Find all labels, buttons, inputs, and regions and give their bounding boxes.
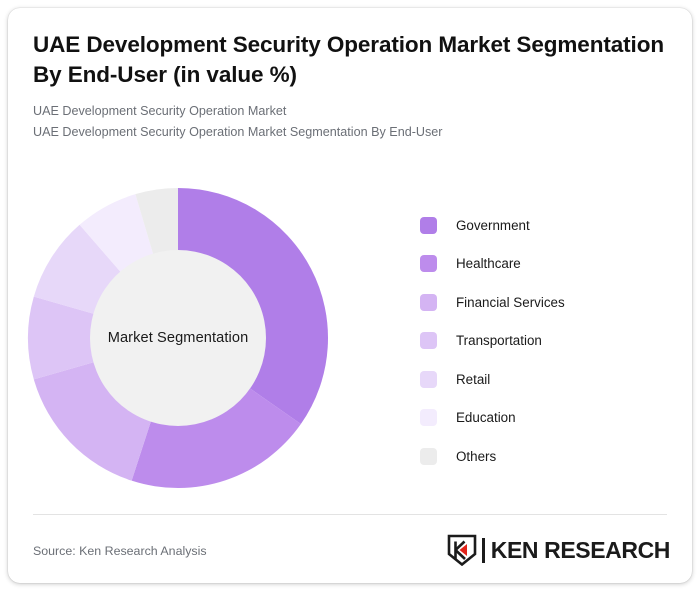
legend-item-government[interactable]: Government: [420, 206, 670, 245]
source-note: Source: Ken Research Analysis: [33, 544, 207, 558]
ken-research-logo: KEN RESEARCH: [447, 533, 670, 567]
breadcrumb: UAE Development Security Operation Marke…: [33, 101, 667, 142]
legend-item-education[interactable]: Education: [420, 399, 670, 438]
legend-item-healthcare[interactable]: Healthcare: [420, 245, 670, 284]
donut-svg: [24, 182, 332, 494]
legend-item-label: Healthcare: [456, 256, 521, 271]
legend-item-retail[interactable]: Retail: [420, 360, 670, 399]
chart-legend: GovernmentHealthcareFinancial ServicesTr…: [420, 206, 670, 476]
logo-wordmark: KEN RESEARCH: [491, 537, 670, 564]
chart-card: UAE Development Security Operation Marke…: [8, 8, 692, 583]
legend-item-label: Government: [456, 218, 530, 233]
legend-swatch-icon: [420, 448, 437, 465]
legend-swatch-icon: [420, 332, 437, 349]
donut-hole: [90, 250, 266, 426]
legend-item-label: Transportation: [456, 333, 542, 348]
legend-item-label: Education: [456, 410, 516, 425]
legend-swatch-icon: [420, 409, 437, 426]
subtitle-segmentation: UAE Development Security Operation Marke…: [33, 122, 667, 142]
legend-item-label: Retail: [456, 372, 490, 387]
donut-chart: Market Segmentation: [24, 182, 332, 494]
legend-item-label: Financial Services: [456, 295, 565, 310]
subtitle-market: UAE Development Security Operation Marke…: [33, 101, 667, 121]
legend-swatch-icon: [420, 294, 437, 311]
legend-swatch-icon: [420, 255, 437, 272]
chart-area: Market Segmentation GovernmentHealthcare…: [8, 176, 692, 506]
footer-divider: [33, 514, 667, 515]
legend-swatch-icon: [420, 217, 437, 234]
legend-item-others[interactable]: Others: [420, 437, 670, 476]
chart-header: UAE Development Security Operation Marke…: [33, 30, 667, 142]
legend-item-transportation[interactable]: Transportation: [420, 322, 670, 361]
logo-divider: [482, 538, 485, 563]
shield-k-icon: [447, 534, 477, 566]
legend-swatch-icon: [420, 371, 437, 388]
legend-item-label: Others: [456, 449, 496, 464]
page-title: UAE Development Security Operation Marke…: [33, 30, 667, 89]
legend-item-financial-services[interactable]: Financial Services: [420, 283, 670, 322]
